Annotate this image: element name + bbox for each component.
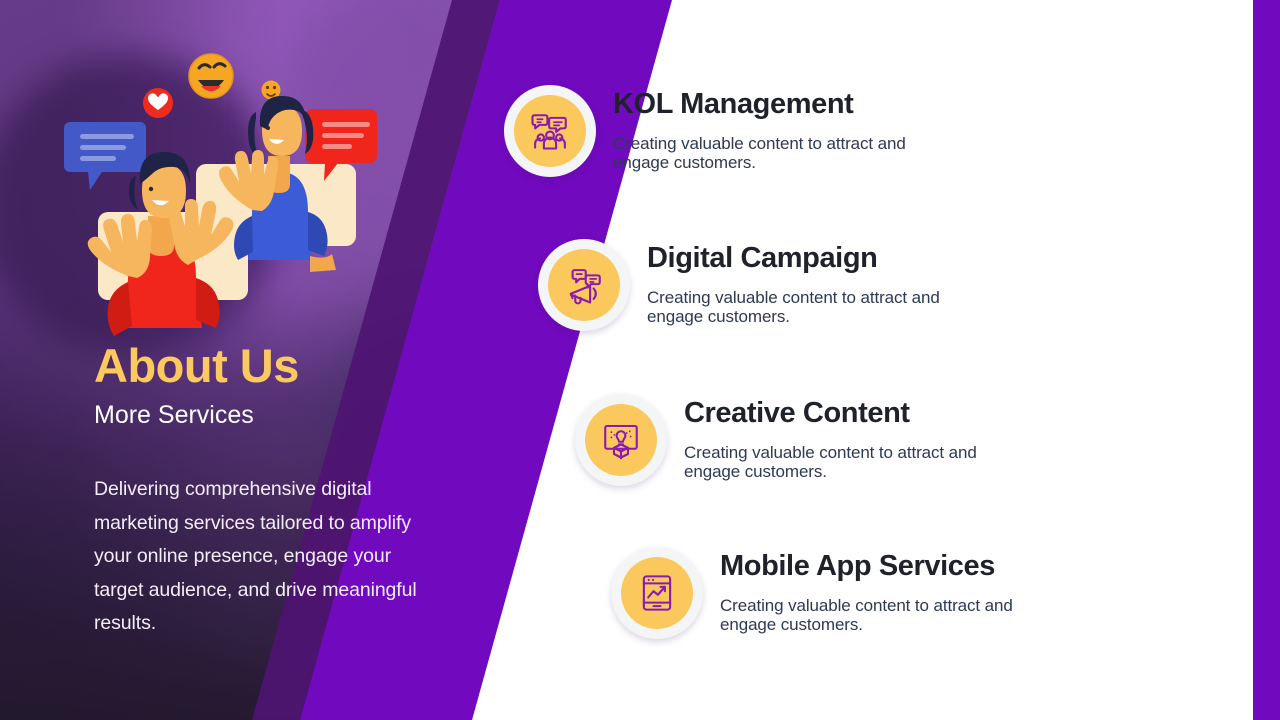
service-icon-wrap[interactable] <box>575 394 667 486</box>
people-chat-illustration <box>56 44 376 314</box>
icon-disc <box>548 249 620 321</box>
service-item-kol-management[interactable]: KOL Management Creating valuable content… <box>504 85 906 177</box>
icon-disc <box>585 404 657 476</box>
service-title: Digital Campaign <box>647 243 940 275</box>
megaphone-campaign-icon <box>563 264 605 306</box>
service-description: Creating valuable content to attract and… <box>684 443 977 482</box>
about-body-text: Delivering comprehensive digital marketi… <box>94 473 424 641</box>
service-title: KOL Management <box>613 89 906 121</box>
service-item-creative-content[interactable]: Creative Content Creating valuable conte… <box>575 394 977 486</box>
laughing-emoji <box>189 54 233 98</box>
service-description: Creating valuable content to attract and… <box>647 288 940 327</box>
service-icon-wrap[interactable] <box>538 239 630 331</box>
service-description: Creating valuable content to attract and… <box>613 134 906 173</box>
slide-canvas: About Us More Services Delivering compre… <box>0 0 1280 720</box>
service-title: Mobile App Services <box>720 551 1013 583</box>
service-text: Mobile App Services Creating valuable co… <box>703 547 1013 635</box>
service-item-mobile-app-services[interactable]: Mobile App Services Creating valuable co… <box>611 547 1013 639</box>
service-text: Digital Campaign Creating valuable conte… <box>630 239 940 327</box>
page-title: About Us <box>94 341 299 391</box>
mobile-phone-chart-icon <box>636 572 678 614</box>
icon-disc <box>514 95 586 167</box>
service-text: KOL Management Creating valuable content… <box>596 85 906 173</box>
heart-reaction <box>143 88 173 118</box>
kol-group-chat-icon <box>529 110 571 152</box>
service-text: Creative Content Creating valuable conte… <box>667 394 977 482</box>
service-title: Creative Content <box>684 398 977 430</box>
service-icon-wrap[interactable] <box>504 85 596 177</box>
creative-idea-lightbulb-icon <box>600 419 642 461</box>
page-subtitle: More Services <box>94 401 254 430</box>
right-edge-accent-bar <box>1253 0 1280 720</box>
service-item-digital-campaign[interactable]: Digital Campaign Creating valuable conte… <box>538 239 940 331</box>
service-description: Creating valuable content to attract and… <box>720 596 1013 635</box>
icon-disc <box>621 557 693 629</box>
service-icon-wrap[interactable] <box>611 547 703 639</box>
